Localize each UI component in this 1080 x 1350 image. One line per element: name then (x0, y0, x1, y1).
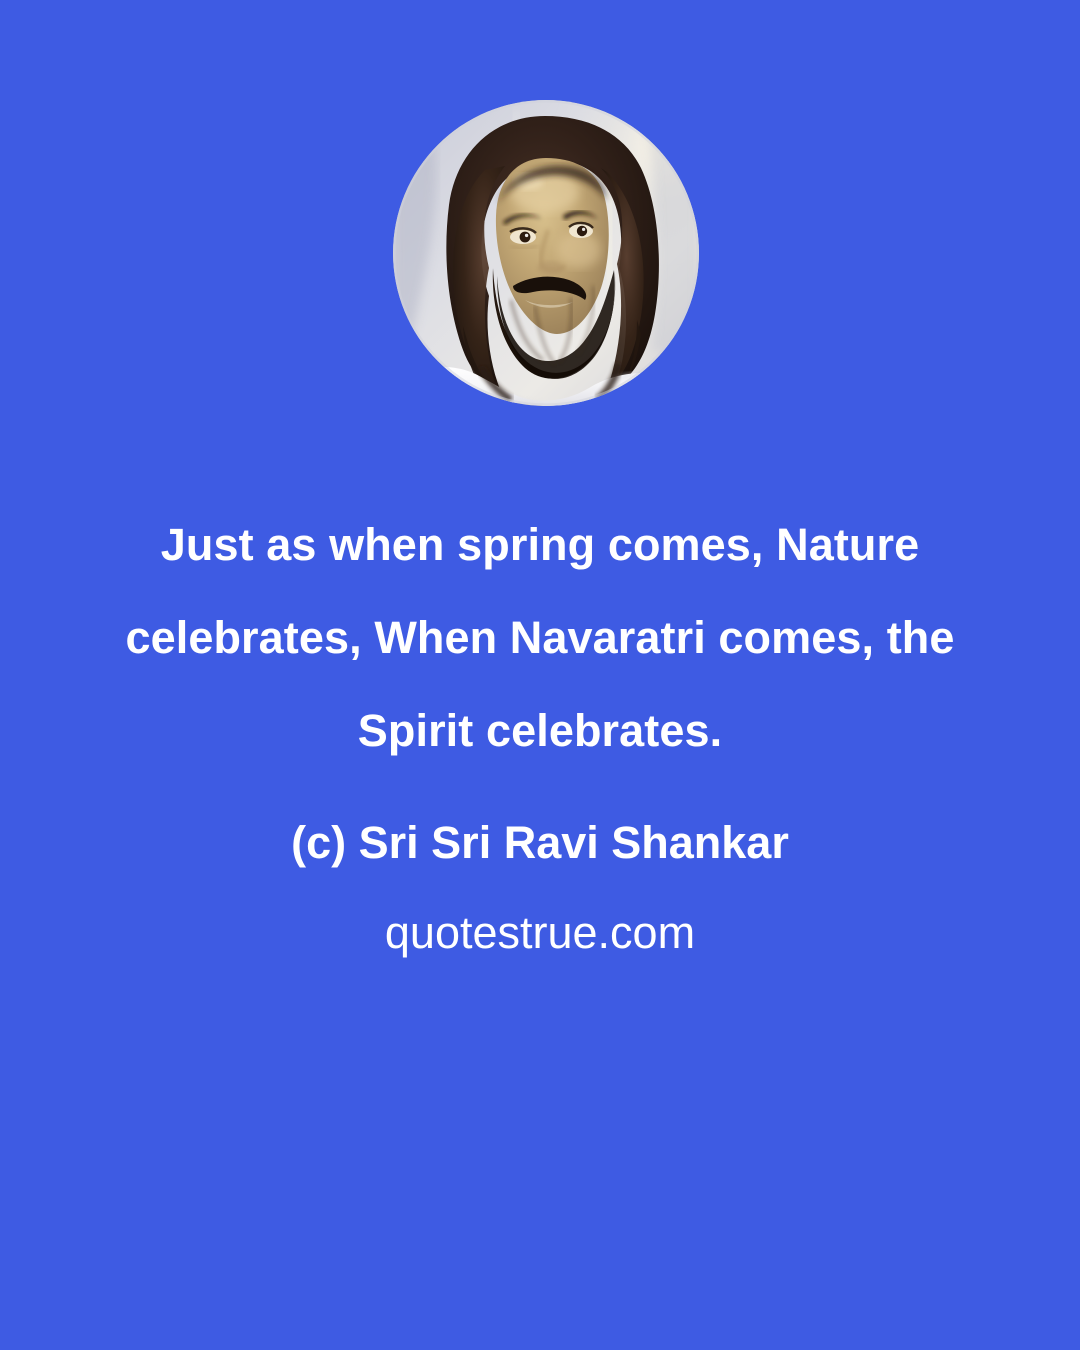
avatar (393, 100, 699, 406)
quote-text: Just as when spring comes, Nature celebr… (0, 498, 1080, 777)
portrait-avatar-icon (393, 100, 699, 406)
quote-card: Just as when spring comes, Nature celebr… (0, 0, 1080, 1350)
quote-attribution: (c) Sri Sri Ravi Shankar (0, 813, 1080, 873)
quote-text-block: Just as when spring comes, Nature celebr… (0, 498, 1080, 963)
source-website: quotestrue.com (0, 903, 1080, 963)
